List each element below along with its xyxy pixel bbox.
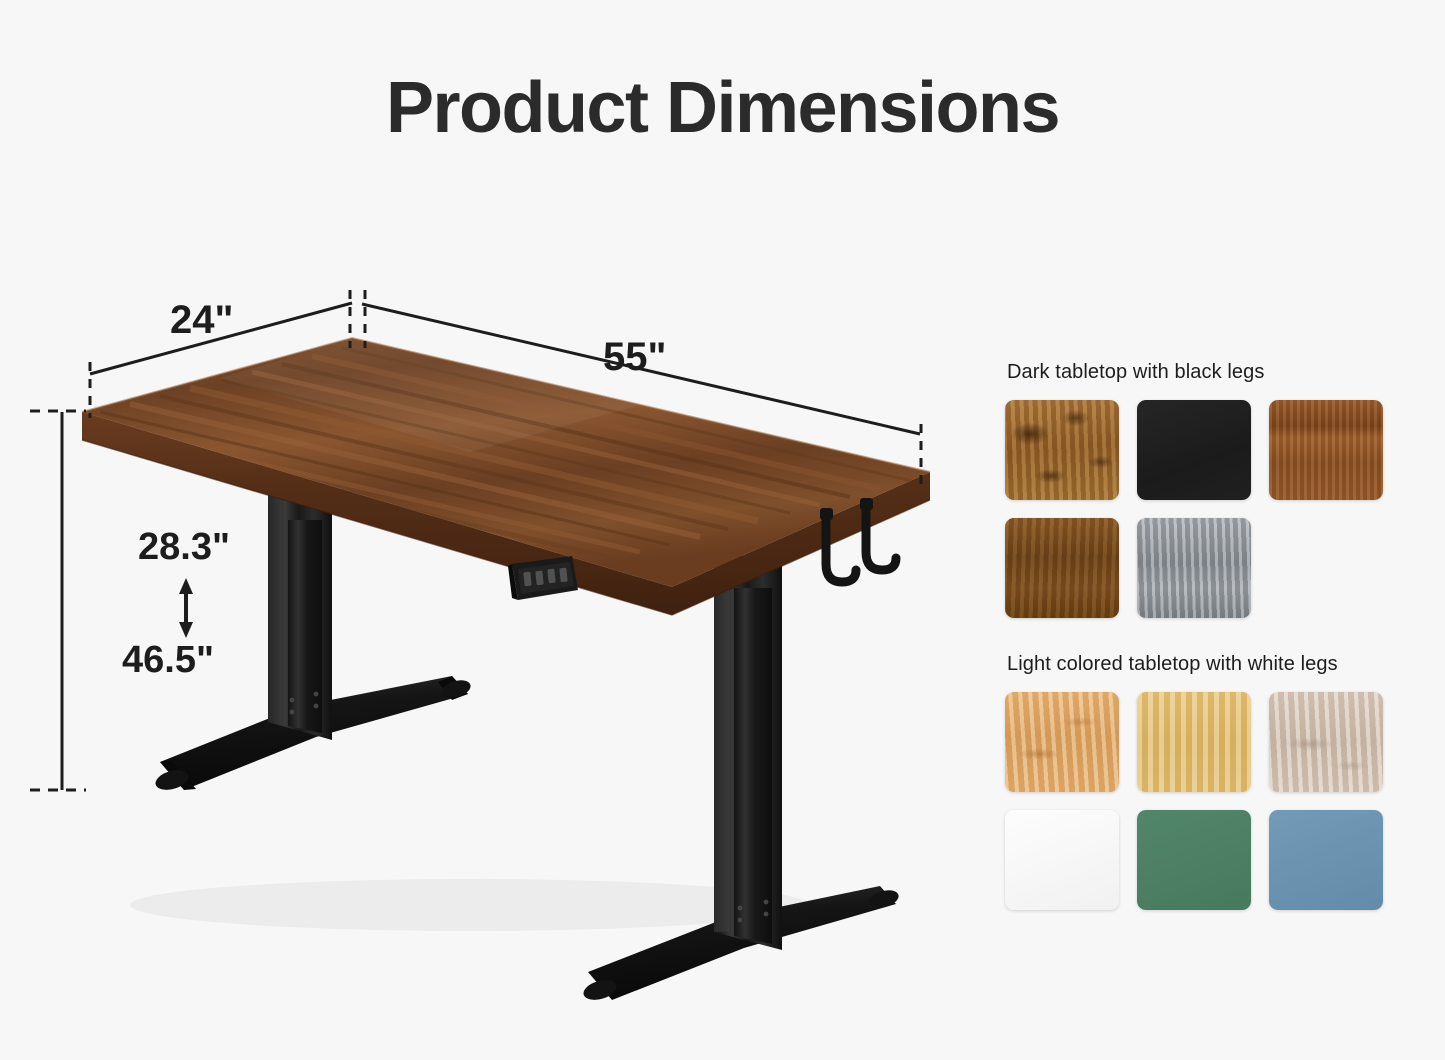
swatch-medium-brown[interactable] <box>1269 400 1383 500</box>
swatch-bamboo[interactable] <box>1137 692 1251 792</box>
swatch-row <box>1005 518 1430 618</box>
height-max-label: 46.5" <box>122 641 214 679</box>
swatch-white[interactable] <box>1005 810 1119 910</box>
tabletop <box>46 338 930 615</box>
swatch-group-light-title: Light colored tabletop with white legs <box>1007 652 1430 676</box>
swatch-group-dark-title: Dark tabletop with black legs <box>1007 360 1430 384</box>
swatch-pale-grey-beige[interactable] <box>1269 692 1383 792</box>
swatch-row <box>1005 400 1430 500</box>
swatch-sage-green[interactable] <box>1137 810 1251 910</box>
swatch-light-oak[interactable] <box>1005 692 1119 792</box>
swatch-group-dark: Dark tabletop with black legs <box>1005 360 1430 618</box>
swatch-dark-walnut[interactable] <box>1005 518 1119 618</box>
color-options-panel: Dark tabletop with black legs Light colo… <box>1005 360 1430 944</box>
depth-label: 24" <box>170 300 233 340</box>
swatch-row <box>1005 692 1430 792</box>
swatch-rustic-brown[interactable] <box>1005 400 1119 500</box>
swatch-placeholder <box>1269 518 1383 618</box>
height-min-label: 28.3" <box>138 528 230 566</box>
swatch-black[interactable] <box>1137 400 1251 500</box>
swatch-grey-wood[interactable] <box>1137 518 1251 618</box>
right-leg-assembly <box>581 556 900 1003</box>
product-dimensions-infographic: Product Dimensions <box>0 0 1445 1060</box>
swatch-row <box>1005 810 1430 910</box>
width-label: 55" <box>603 337 666 377</box>
swatch-group-light: Light colored tabletop with white legs <box>1005 652 1430 910</box>
swatch-steel-blue[interactable] <box>1269 810 1383 910</box>
